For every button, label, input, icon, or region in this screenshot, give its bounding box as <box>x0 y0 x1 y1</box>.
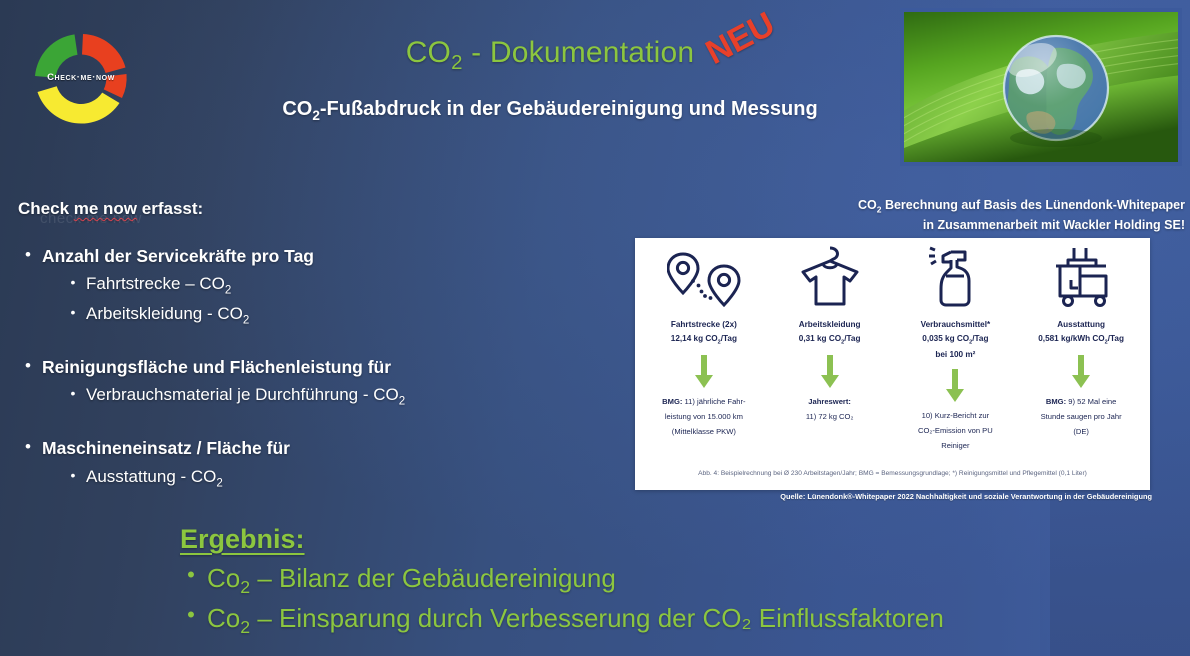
value-post: /Tag <box>721 334 737 343</box>
down-arrow-icon <box>1070 355 1092 389</box>
value-pre: 0,035 kg CO <box>922 334 969 343</box>
infographic-column: Verbrauchsmittel* 0,035 kg CO2/Tag bei 1… <box>893 246 1019 450</box>
footnote-label: Jahreswert: <box>808 397 851 406</box>
result-post: – Bilanz der Gebäudereinigung <box>250 563 616 593</box>
result-post: – Einsparung durch Verbesserung der CO₂ … <box>250 603 944 633</box>
bullet-marker: • <box>60 271 86 289</box>
spray-bottle-icon <box>927 246 983 308</box>
value-pre: 12,14 kg CO <box>671 334 718 343</box>
caption-post: Berechnung auf Basis des Lünendonk-White… <box>881 198 1185 212</box>
sub-text: Verbrauchsmaterial je Durchführung - CO <box>86 385 399 404</box>
bullet-marker: • <box>60 301 86 319</box>
bullet-label: Anzahl der Servicekräfte pro Tag <box>42 243 314 269</box>
bullet-item-level2: • Verbrauchsmaterial je Durchführung - C… <box>14 382 534 411</box>
bullet-label: Ausstattung - CO2 <box>86 464 223 493</box>
bullet-marker: • <box>14 435 42 455</box>
lead-part-a: Check <box>18 199 74 218</box>
column-title: Ausstattung <box>1057 318 1105 332</box>
result-sub: 2 <box>240 617 250 637</box>
result-item: • Co2 – Einsparung durch Verbesserung de… <box>175 602 1125 638</box>
sub-text: Fahrtstrecke – CO <box>86 274 225 293</box>
bullet-item-level1: • Anzahl der Servicekräfte pro Tag <box>14 243 534 269</box>
bullet-item-level1: • Maschineneinsatz / Fläche für <box>14 435 534 461</box>
footnote-line2: Stunde saugen pro Jahr <box>1041 412 1122 421</box>
column-value: 0,581 kg/kWh CO2/Tag <box>1038 332 1124 348</box>
infographic-card: Fahrtstrecke (2x) 12,14 kg CO2/Tag BMG: … <box>635 238 1150 490</box>
bullet-item-level2: • Fahrtstrecke – CO2 <box>14 271 534 300</box>
result-label: Co2 – Einsparung durch Verbesserung der … <box>207 602 944 638</box>
value-post: /Tag <box>972 334 988 343</box>
sub-index: 2 <box>225 285 231 297</box>
lead-part-c: erfasst: <box>137 199 203 218</box>
column-title: Verbrauchsmittel* <box>921 318 991 332</box>
sub-text: Arbeitskleidung - CO <box>86 304 243 323</box>
caption-pre: CO <box>858 198 877 212</box>
page-subtitle-post: -Fußabdruck in der Gebäudereinigung und … <box>320 98 818 120</box>
footnote-line3: (DE) <box>1073 427 1089 436</box>
column-value: 0,035 kg CO2/Tag <box>922 332 988 348</box>
bullet-marker: • <box>175 562 207 586</box>
bullet-marker: • <box>14 243 42 263</box>
column-value: 0,31 kg CO2/Tag <box>799 332 861 348</box>
bullet-item-level2: • Ausstattung - CO2 <box>14 464 534 493</box>
right-caption: CO2 Berechnung auf Basis des Lünendonk-W… <box>760 196 1185 234</box>
source-line: Quelle: Lünendonk®-Whitepaper 2022 Nachh… <box>640 492 1152 501</box>
infographic-columns: Fahrtstrecke (2x) 12,14 kg CO2/Tag BMG: … <box>635 238 1150 450</box>
caption-line2: in Zusammenarbeit mit Wackler Holding SE… <box>923 218 1185 232</box>
result-sub: 2 <box>240 577 250 597</box>
column-value: 12,14 kg CO2/Tag <box>671 332 737 348</box>
bullet-label: Arbeitskleidung - CO2 <box>86 301 249 330</box>
infographic-note: Abb. 4: Beispielrechnung bei Ø 230 Arbei… <box>635 469 1150 478</box>
value-post: /Tag <box>1108 334 1124 343</box>
logo-text: Check·me·now <box>22 72 140 83</box>
bullet-item-level2: • Arbeitskleidung - CO2 <box>14 301 534 330</box>
bullet-group: • Anzahl der Servicekräfte pro Tag • Fah… <box>14 243 534 330</box>
result-label: Co2 – Bilanz der Gebäudereinigung <box>207 562 616 598</box>
result-pre: Co <box>207 563 240 593</box>
page-subtitle: CO2-Fußabdruck in der Gebäudereinigung u… <box>220 98 880 123</box>
infographic-column: Ausstattung 0,581 kg/kWh CO2/Tag BMG: 9)… <box>1018 246 1144 450</box>
page-title-post: - Dokumentation <box>463 36 695 69</box>
result-pre: Co <box>207 603 240 633</box>
bullet-item-level1: • Reinigungsfläche und Flächenleistung f… <box>14 354 534 380</box>
footnote-rest: 11) jährliche Fahr- <box>682 397 745 406</box>
footnote-line2: CO₂-Emission von PU <box>918 426 993 435</box>
column-title: Fahrtstrecke (2x) <box>671 318 737 332</box>
location-pins-icon <box>667 246 741 308</box>
footnote-rest: 9) 52 Mal eine <box>1066 397 1116 406</box>
sub-text: Ausstattung - CO <box>86 467 216 486</box>
bullet-list: • Anzahl der Servicekräfte pro Tag • Fah… <box>14 243 534 517</box>
bullet-label: Fahrtstrecke – CO2 <box>86 271 231 300</box>
bullet-label: Verbrauchsmaterial je Durchführung - CO2 <box>86 382 405 411</box>
sub-index: 2 <box>243 314 249 326</box>
footnote-label: BMG: <box>1046 397 1066 406</box>
result-item: • Co2 – Bilanz der Gebäudereinigung <box>175 562 1125 598</box>
column-footnote: BMG: 9) 52 Mal eine Stunde saugen pro Ja… <box>1041 395 1122 439</box>
bullet-marker: • <box>60 464 86 482</box>
footnote-line3: Reiniger <box>941 441 969 450</box>
page-title-sub: 2 <box>451 52 463 74</box>
down-arrow-icon <box>819 355 841 389</box>
value-pre: 0,581 kg/kWh CO <box>1038 334 1104 343</box>
footnote-line2: 11) 72 kg CO₂ <box>806 412 854 421</box>
footnote-rest: 10) Kurz-Bericht zur <box>922 411 990 420</box>
value-post: /Tag <box>844 334 860 343</box>
page-title-pre: CO <box>406 36 451 69</box>
logo: Check·me·now <box>22 25 140 135</box>
sub-index: 2 <box>399 396 405 408</box>
column-footnote: 10) Kurz-Bericht zur CO₂-Emission von PU… <box>918 409 993 453</box>
value-pre: 0,31 kg CO <box>799 334 841 343</box>
down-arrow-icon <box>944 369 966 403</box>
footnote-line2: leistung von 15.000 km <box>665 412 743 421</box>
column-title: Arbeitskleidung <box>799 318 861 332</box>
bullet-marker: • <box>14 354 42 374</box>
column-extra: bei 100 m² <box>935 348 975 362</box>
cleaning-trolley-icon <box>1044 246 1118 308</box>
result-heading: Ergebnis: <box>180 524 305 555</box>
bullet-marker: • <box>175 602 207 626</box>
bullet-label: Maschineneinsatz / Fläche für <box>42 435 290 461</box>
bullet-group: • Reinigungsfläche und Flächenleistung f… <box>14 354 534 412</box>
page-subtitle-sub: 2 <box>312 108 320 123</box>
bullet-label: Reinigungsfläche und Flächenleistung für <box>42 354 391 380</box>
page-subtitle-pre: CO <box>282 98 312 120</box>
bullet-marker: • <box>60 382 86 400</box>
section-heading-erfasst: Check me now erfasst: <box>18 199 203 219</box>
column-footnote: Jahreswert: 11) 72 kg CO₂ <box>806 395 854 425</box>
hero-illustration-icon <box>904 12 1178 162</box>
tshirt-hanger-icon <box>795 246 865 308</box>
result-list: • Co2 – Bilanz der Gebäudereinigung • Co… <box>175 562 1125 643</box>
slide: Check·me·now CO2 - Dokumentation CO2-Fuß… <box>0 0 1190 656</box>
infographic-column: Arbeitskleidung 0,31 kg CO2/Tag Jahreswe… <box>767 246 893 450</box>
column-footnote: BMG: 11) jährliche Fahr- leistung von 15… <box>662 395 745 439</box>
footnote-line3: (Mittelklasse PKW) <box>672 427 736 436</box>
sub-index: 2 <box>216 477 222 489</box>
footnote-label: BMG: <box>662 397 682 406</box>
bullet-group: • Maschineneinsatz / Fläche für • Aussta… <box>14 435 534 493</box>
lead-part-misspelled: me now <box>74 199 137 218</box>
hero-image-earth-droplet <box>900 8 1182 166</box>
down-arrow-icon <box>693 355 715 389</box>
infographic-column: Fahrtstrecke (2x) 12,14 kg CO2/Tag BMG: … <box>641 246 767 450</box>
